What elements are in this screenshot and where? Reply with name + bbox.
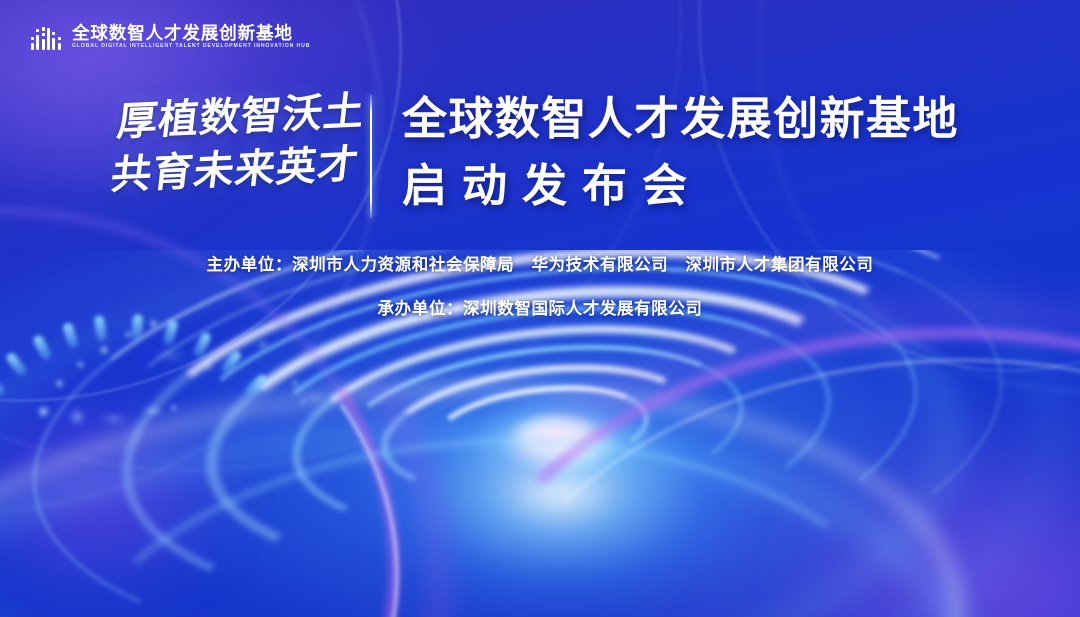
white-arc-bottom-right xyxy=(437,327,1080,617)
vortex-front-band-2 xyxy=(0,400,970,617)
dash-segment xyxy=(192,331,212,359)
glow-left-purple xyxy=(0,330,310,617)
vortex-ring-5 xyxy=(235,275,846,585)
bokeh-dot xyxy=(256,338,270,352)
vortex-ring-2 xyxy=(374,348,707,512)
dash-segment xyxy=(219,349,243,376)
dashed-arc-segments xyxy=(0,300,330,617)
dash-segment xyxy=(5,351,29,378)
dash-segment xyxy=(94,315,108,342)
magenta-arc-bottom-right xyxy=(407,296,1080,617)
slogan-line-1: 厚植数智沃土 xyxy=(115,91,365,142)
vortex-ring-3 xyxy=(327,324,754,537)
event-title: 全球数智人才发展创新基地 启动发布会 xyxy=(402,96,959,208)
glow-bottom-right xyxy=(720,400,1080,617)
bokeh-dot xyxy=(170,404,178,412)
bokeh-dot xyxy=(140,404,166,418)
vortex-ring-1 xyxy=(426,374,655,486)
site-logo[interactable]: 全球数智人才发展创新基地 GLOBAL DIGITAL INTELLIGENT … xyxy=(31,24,310,50)
dash-segment xyxy=(162,319,178,347)
bokeh-dot xyxy=(150,344,190,366)
bokeh-dot xyxy=(300,390,330,406)
logo-name-en: GLOBAL DIGITAL INTELLIGENT TALENT DEVELO… xyxy=(72,44,310,49)
bokeh-dot xyxy=(198,356,216,374)
bokeh-dot xyxy=(290,378,300,388)
light-streak-3 xyxy=(0,0,680,470)
bokeh-dot xyxy=(96,410,130,428)
dash-segment xyxy=(243,373,269,398)
dash-segment xyxy=(32,334,53,362)
dash-segment xyxy=(62,322,80,350)
vortex-core-hotspot xyxy=(510,412,600,458)
slogan-calligraphy: 厚植数智沃土 共育未来英才 xyxy=(112,97,362,215)
bokeh-dot xyxy=(36,404,51,419)
logo-name-cn: 全球数智人才发展创新基地 xyxy=(72,25,310,43)
bokeh-dot xyxy=(98,344,110,356)
host-organizations: 主办单位：深圳市人力资源和社会保障局 华为技术有限公司 深圳市人才集团有限公司 xyxy=(0,251,1080,275)
dash-segment xyxy=(0,373,7,398)
bokeh-dot xyxy=(148,318,159,329)
bokeh-dot xyxy=(66,406,88,428)
bokeh-dot xyxy=(300,398,307,405)
vertical-divider xyxy=(370,95,372,218)
equalizer-bars-icon xyxy=(31,24,61,50)
bokeh-dot xyxy=(76,360,85,369)
vortex-front-band xyxy=(0,352,970,617)
slogan-line-2: 共育未来英才 xyxy=(109,144,365,195)
white-arc-left xyxy=(0,184,457,617)
vortex-ring-4 xyxy=(281,299,800,560)
event-title-line-1: 全球数智人才发展创新基地 xyxy=(402,96,959,141)
event-title-line-2: 启动发布会 xyxy=(402,163,959,208)
event-backdrop-poster: 全球数智人才发展创新基地 GLOBAL DIGITAL INTELLIGENT … xyxy=(0,0,1080,617)
vortex-core-glow xyxy=(470,395,650,490)
bokeh-dot xyxy=(54,378,65,389)
vortex-center-glow xyxy=(300,330,820,617)
organizing-organization: 承办单位：深圳数智国际人才发展有限公司 xyxy=(0,295,1080,319)
bokeh-dot xyxy=(124,330,133,339)
cyan-arc-bottom xyxy=(26,417,954,617)
